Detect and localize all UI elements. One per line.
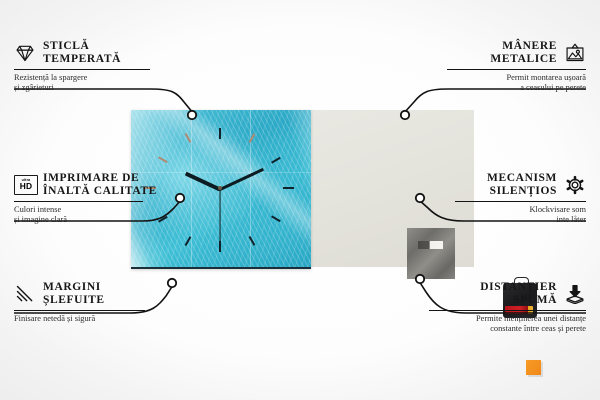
metal-hanger-plate: [407, 228, 455, 279]
callout-subtitle-line1: Culori intense: [14, 205, 200, 215]
ultra-hd-icon: ultra HD: [14, 175, 36, 195]
callout-title: MECANISM SILENȚIOS: [487, 172, 557, 197]
callout-subtitle-line2: constante între ceas și perete: [385, 324, 586, 334]
callout-high-quality-print: ultra HD IMPRIMARE DE ÎNALTĂ CALITATE Cu…: [0, 172, 200, 225]
callout-subtitle-line1: Klockvisare som: [420, 205, 586, 215]
hanger-slot: [418, 241, 443, 249]
callout-title: MÂNERE METALICE: [490, 40, 557, 65]
callout-subtitle-line1: Rezistență la spargere: [14, 73, 180, 83]
callout-title: MARGINI ȘLEFUITE: [43, 281, 105, 306]
callout-foam-spacer: DISTANȚIER SPUMĂ Permite menținerea unei…: [385, 281, 600, 334]
foam-spacer: [526, 360, 541, 375]
callout-subtitle-line1: Permite menținerea unei distanțe: [385, 314, 586, 324]
callout-silent-mechanism: MECANISM SILENȚIOS Klockvisare som inte …: [420, 172, 600, 225]
press-down-icon: [564, 284, 586, 304]
callout-metal-handles: MÂNERE METALICE Permit montarea ușoară a…: [410, 40, 600, 93]
beveled-edges-icon: [14, 284, 36, 304]
callout-subtitle-line2: și imagine clară: [14, 215, 200, 225]
callout-polished-edges: MARGINI ȘLEFUITE Finisare netedă și sigu…: [0, 281, 190, 324]
callout-title: DISTANȚIER SPUMĂ: [480, 281, 557, 306]
callout-title: STICLĂ TEMPERATĂ: [43, 40, 121, 65]
callout-subtitle-line2: și zgârieturi: [14, 83, 180, 93]
diamond-icon: [14, 43, 36, 63]
callout-subtitle-line2: inte låter: [420, 215, 586, 225]
callout-subtitle-line1: Permit montarea ușoară: [410, 73, 586, 83]
gear-icon: [564, 175, 586, 195]
hanging-frame-icon: [564, 43, 586, 63]
clock-second-hand: [219, 189, 220, 242]
callout-title: IMPRIMARE DE ÎNALTĂ CALITATE: [43, 172, 157, 197]
callout-subtitle-line1: Finisare netedă și sigură: [14, 314, 190, 324]
infographic-canvas: STICLĂ TEMPERATĂ Rezistență la spargere …: [0, 0, 600, 400]
callout-tempered-glass: STICLĂ TEMPERATĂ Rezistență la spargere …: [0, 40, 180, 93]
callout-subtitle-line2: a ceasului pe perete: [410, 83, 586, 93]
